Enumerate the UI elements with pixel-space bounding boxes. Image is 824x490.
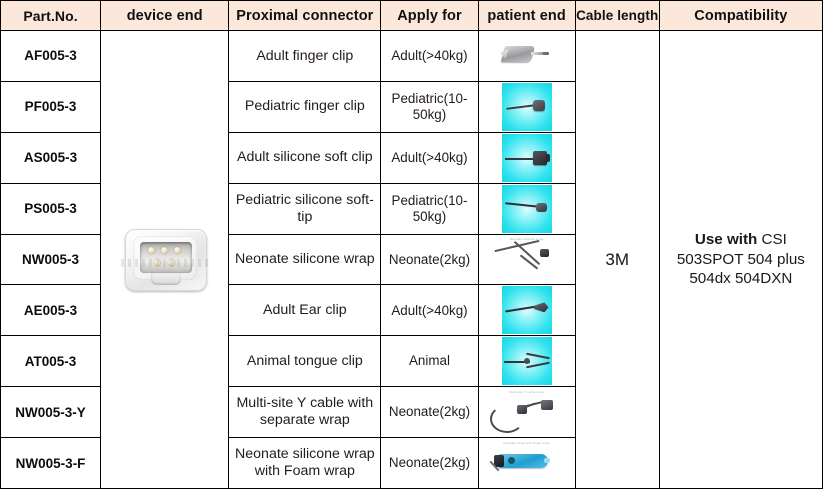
column-header-compatibility: Compatibility	[659, 1, 822, 31]
product-specification-table-page: Part.No. device end Proximal connector A…	[0, 0, 824, 490]
table-header-row: Part.No. device end Proximal connector A…	[1, 1, 823, 31]
cell-apply-for: Adult(>40kg)	[381, 31, 478, 82]
product-spec-table: Part.No. device end Proximal connector A…	[0, 0, 823, 489]
neonate-foam-wrap-photo: Neonate wrap with Foam wrap	[484, 439, 570, 487]
cell-partno: AT005-3	[1, 336, 101, 387]
cell-patient-end-image	[478, 31, 575, 82]
cell-proximal-connector: Adult finger clip	[229, 31, 381, 82]
cell-apply-for: Pediatric(10-50kg)	[381, 81, 478, 132]
column-header-cable-length: Cable length	[575, 1, 659, 31]
cell-proximal-connector: Adult Ear clip	[229, 285, 381, 336]
neonate-silicone-wrap-photo: Neonate silicone wrap	[484, 235, 570, 283]
cell-apply-for: Adult(>40kg)	[381, 285, 478, 336]
cell-proximal-connector: Pediatric silicone soft-tip	[229, 183, 381, 234]
cell-partno: AE005-3	[1, 285, 101, 336]
cell-apply-for: Neonate(2kg)	[381, 438, 478, 489]
cell-partno: NW005-3	[1, 234, 101, 285]
adult-ear-clip-photo	[502, 286, 552, 334]
cell-patient-end-image	[478, 81, 575, 132]
cell-apply-for: Neonate(2kg)	[381, 234, 478, 285]
cell-patient-end-image: Multi-site Y cable wrap	[478, 387, 575, 438]
cell-patient-end-image: Neonate silicone wrap	[478, 234, 575, 285]
column-header-partno: Part.No.	[1, 1, 101, 31]
cell-apply-for: Neonate(2kg)	[381, 387, 478, 438]
cell-patient-end-image	[478, 132, 575, 183]
pediatric-finger-clip-photo	[502, 83, 552, 131]
cell-apply-for: Pediatric(10-50kg)	[381, 183, 478, 234]
cell-proximal-connector: Animal tongue clip	[229, 336, 381, 387]
db9-style-connector-photo	[117, 223, 213, 297]
cell-patient-end-image	[478, 285, 575, 336]
cell-patient-end-image: Neonate wrap with Foam wrap	[478, 438, 575, 489]
cell-partno: PF005-3	[1, 81, 101, 132]
table-row: AF005-3	[1, 31, 823, 82]
compatibility-bold-prefix: Use with	[695, 231, 757, 248]
cell-proximal-connector: Neonate silicone wrap	[229, 234, 381, 285]
column-header-apply-for: Apply for	[381, 1, 478, 31]
cell-partno: NW005-3-Y	[1, 387, 101, 438]
cell-cable-length: 3M	[575, 31, 659, 489]
column-header-device-end: device end	[101, 1, 229, 31]
adult-silicone-soft-clip-photo	[502, 134, 552, 182]
cell-apply-for: Animal	[381, 336, 478, 387]
adult-finger-clip-photo	[499, 32, 555, 80]
cell-proximal-connector: Pediatric finger clip	[229, 81, 381, 132]
column-header-patient-end: patient end	[478, 1, 575, 31]
pediatric-silicone-soft-tip-photo	[502, 185, 552, 233]
cell-device-end-image	[101, 31, 229, 489]
cell-proximal-connector: Neonate silicone wrap with Foam wrap	[229, 438, 381, 489]
cell-partno: AS005-3	[1, 132, 101, 183]
cell-proximal-connector: Multi-site Y cable with separate wrap	[229, 387, 381, 438]
column-header-proximal-connector: Proximal connector	[229, 1, 381, 31]
cell-apply-for: Adult(>40kg)	[381, 132, 478, 183]
multi-site-y-cable-photo: Multi-site Y cable wrap	[484, 388, 570, 436]
cell-compatibility: Use with CSI 503SPOT 504 plus 504dx 504D…	[659, 31, 822, 489]
cell-partno: PS005-3	[1, 183, 101, 234]
cell-partno: NW005-3-F	[1, 438, 101, 489]
cell-patient-end-image	[478, 183, 575, 234]
cell-proximal-connector: Adult silicone soft clip	[229, 132, 381, 183]
cell-patient-end-image	[478, 336, 575, 387]
cell-partno: AF005-3	[1, 31, 101, 82]
animal-tongue-clip-photo	[502, 337, 552, 385]
